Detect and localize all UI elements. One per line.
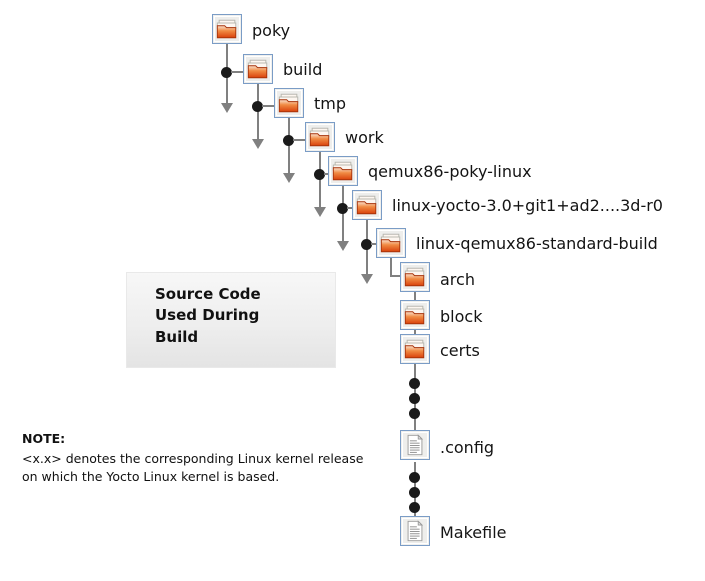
folder-icon-glyph: [403, 303, 427, 327]
node-label-poky: poky: [252, 23, 290, 39]
folder-icon[interactable]: [243, 54, 273, 84]
ellipsis-dot-6: [409, 502, 420, 513]
folder-icon[interactable]: [305, 122, 335, 152]
document-icon[interactable]: [400, 430, 430, 460]
note-body: <x.x> denotes the corresponding Linux ke…: [22, 450, 382, 486]
arrowhead-tmp: [283, 173, 295, 183]
ellipsis-dot-1: [409, 378, 420, 389]
arrowhead-work: [314, 207, 326, 217]
arrowhead-build: [252, 139, 264, 149]
arrowhead-linuxyocto: [361, 274, 373, 284]
connector-build-stem: [257, 84, 259, 146]
connector-qemux86-stem: [342, 186, 344, 248]
folder-icon[interactable]: [400, 262, 430, 292]
ellipsis-dot-3: [409, 408, 420, 419]
folder-icon[interactable]: [328, 156, 358, 186]
source-code-callout-text: Source Code Used During Build: [155, 284, 261, 348]
folder-icon-glyph: [379, 231, 403, 255]
diagram-canvas: Source Code Used During Build NOTE: <x.x…: [0, 0, 705, 581]
folder-icon-glyph: [215, 17, 239, 41]
node-label-qemux86-poky-linux: qemux86-poky-linux: [368, 164, 532, 180]
folder-icon-glyph: [246, 57, 270, 81]
folder-icon-glyph: [331, 159, 355, 183]
folder-icon-glyph: [355, 193, 379, 217]
folder-icon[interactable]: [274, 88, 304, 118]
folder-icon[interactable]: [400, 300, 430, 330]
document-icon-glyph: [403, 519, 427, 543]
folder-icon[interactable]: [376, 228, 406, 258]
node-label-linux-qemux86-standard-build: linux-qemux86-standard-build: [416, 236, 658, 252]
folder-icon-glyph: [403, 265, 427, 289]
node-label-linux-yocto: linux-yocto-3.0+git1+ad2....3d-r0: [392, 198, 663, 214]
connector-linuxyocto-stem: [366, 220, 368, 282]
folder-icon-glyph: [308, 125, 332, 149]
document-icon[interactable]: [400, 516, 430, 546]
arrowhead-poky: [221, 103, 233, 113]
node-label-work: work: [345, 130, 384, 146]
folder-icon[interactable]: [400, 334, 430, 364]
ellipsis-dot-5: [409, 487, 420, 498]
node-label-arch: arch: [440, 272, 475, 288]
node-label-build: build: [283, 62, 322, 78]
note-title: NOTE:: [22, 433, 65, 446]
folder-icon-glyph: [403, 337, 427, 361]
arrowhead-qemux86: [337, 241, 349, 251]
document-icon-glyph: [403, 433, 427, 457]
folder-icon[interactable]: [352, 190, 382, 220]
node-label-tmp: tmp: [314, 96, 346, 112]
ellipsis-dot-4: [409, 472, 420, 483]
ellipsis-dot-2: [409, 393, 420, 404]
folder-icon-glyph: [277, 91, 301, 115]
node-label-makefile: Makefile: [440, 525, 507, 541]
node-label-dotconfig: .config: [440, 440, 494, 456]
folder-icon[interactable]: [212, 14, 242, 44]
node-label-certs: certs: [440, 343, 480, 359]
node-label-block: block: [440, 309, 482, 325]
connector-work-stem: [319, 152, 321, 214]
connector-tmp-stem: [288, 118, 290, 180]
